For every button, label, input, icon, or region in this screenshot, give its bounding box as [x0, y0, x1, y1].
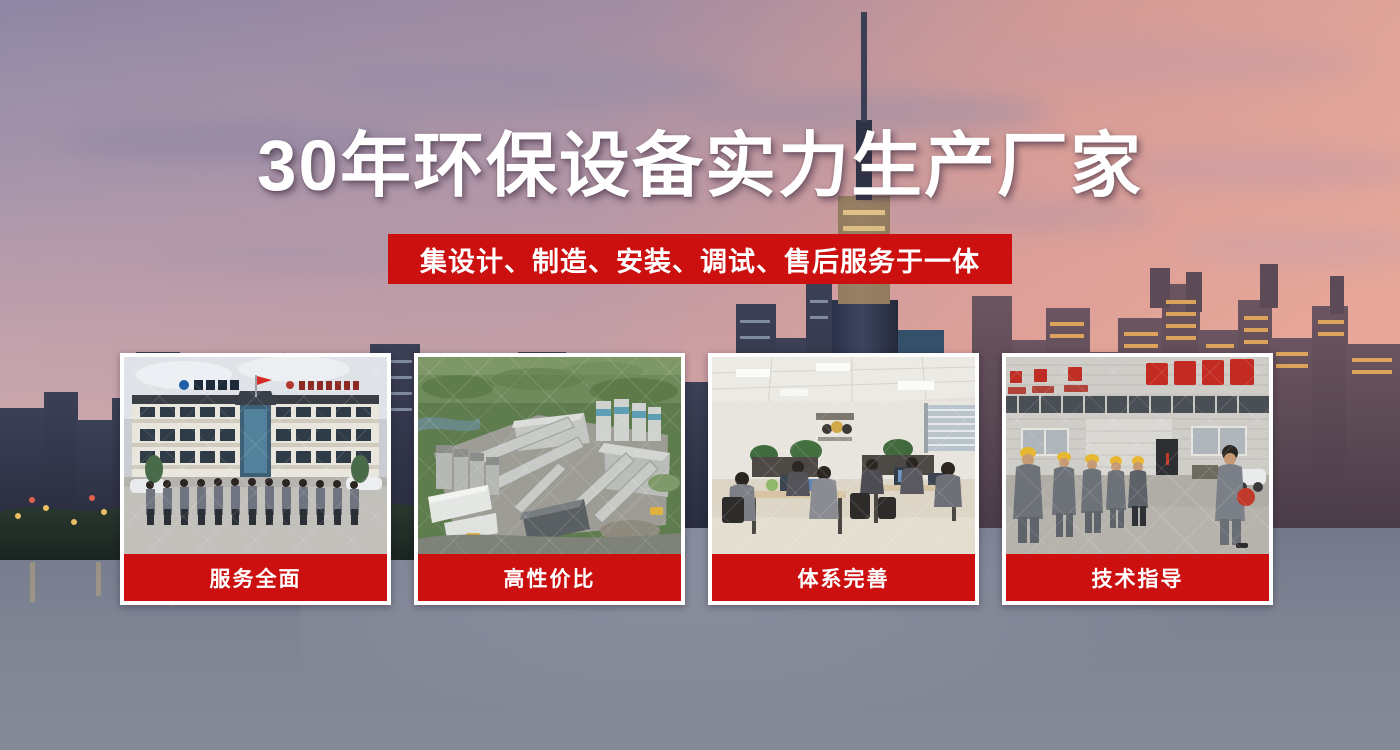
- card-photo-aerial-plant: [418, 357, 681, 554]
- headline-title: 30年环保设备实力生产厂家: [0, 131, 1400, 202]
- card-photo-office-building: [124, 357, 387, 554]
- card-photo-office-interior: [712, 357, 975, 554]
- feature-card-row: 服务全面: [120, 353, 1278, 605]
- feature-card[interactable]: 服务全面: [120, 353, 391, 605]
- feature-card[interactable]: 体系完善: [708, 353, 979, 605]
- card-photo-workshop-training: [1006, 357, 1269, 554]
- card-caption: 体系完善: [712, 554, 975, 601]
- subtitle-text: 集设计、制造、安装、调试、售后服务于一体: [420, 240, 980, 279]
- card-caption: 技术指导: [1006, 554, 1269, 601]
- promo-banner: 30年环保设备实力生产厂家 集设计、制造、安装、调试、售后服务于一体: [0, 0, 1400, 750]
- subtitle-bar: 集设计、制造、安装、调试、售后服务于一体: [388, 234, 1012, 284]
- card-caption: 服务全面: [124, 554, 387, 601]
- feature-card[interactable]: 高性价比: [414, 353, 685, 605]
- card-caption: 高性价比: [418, 554, 681, 601]
- feature-card[interactable]: 技术指导: [1002, 353, 1273, 605]
